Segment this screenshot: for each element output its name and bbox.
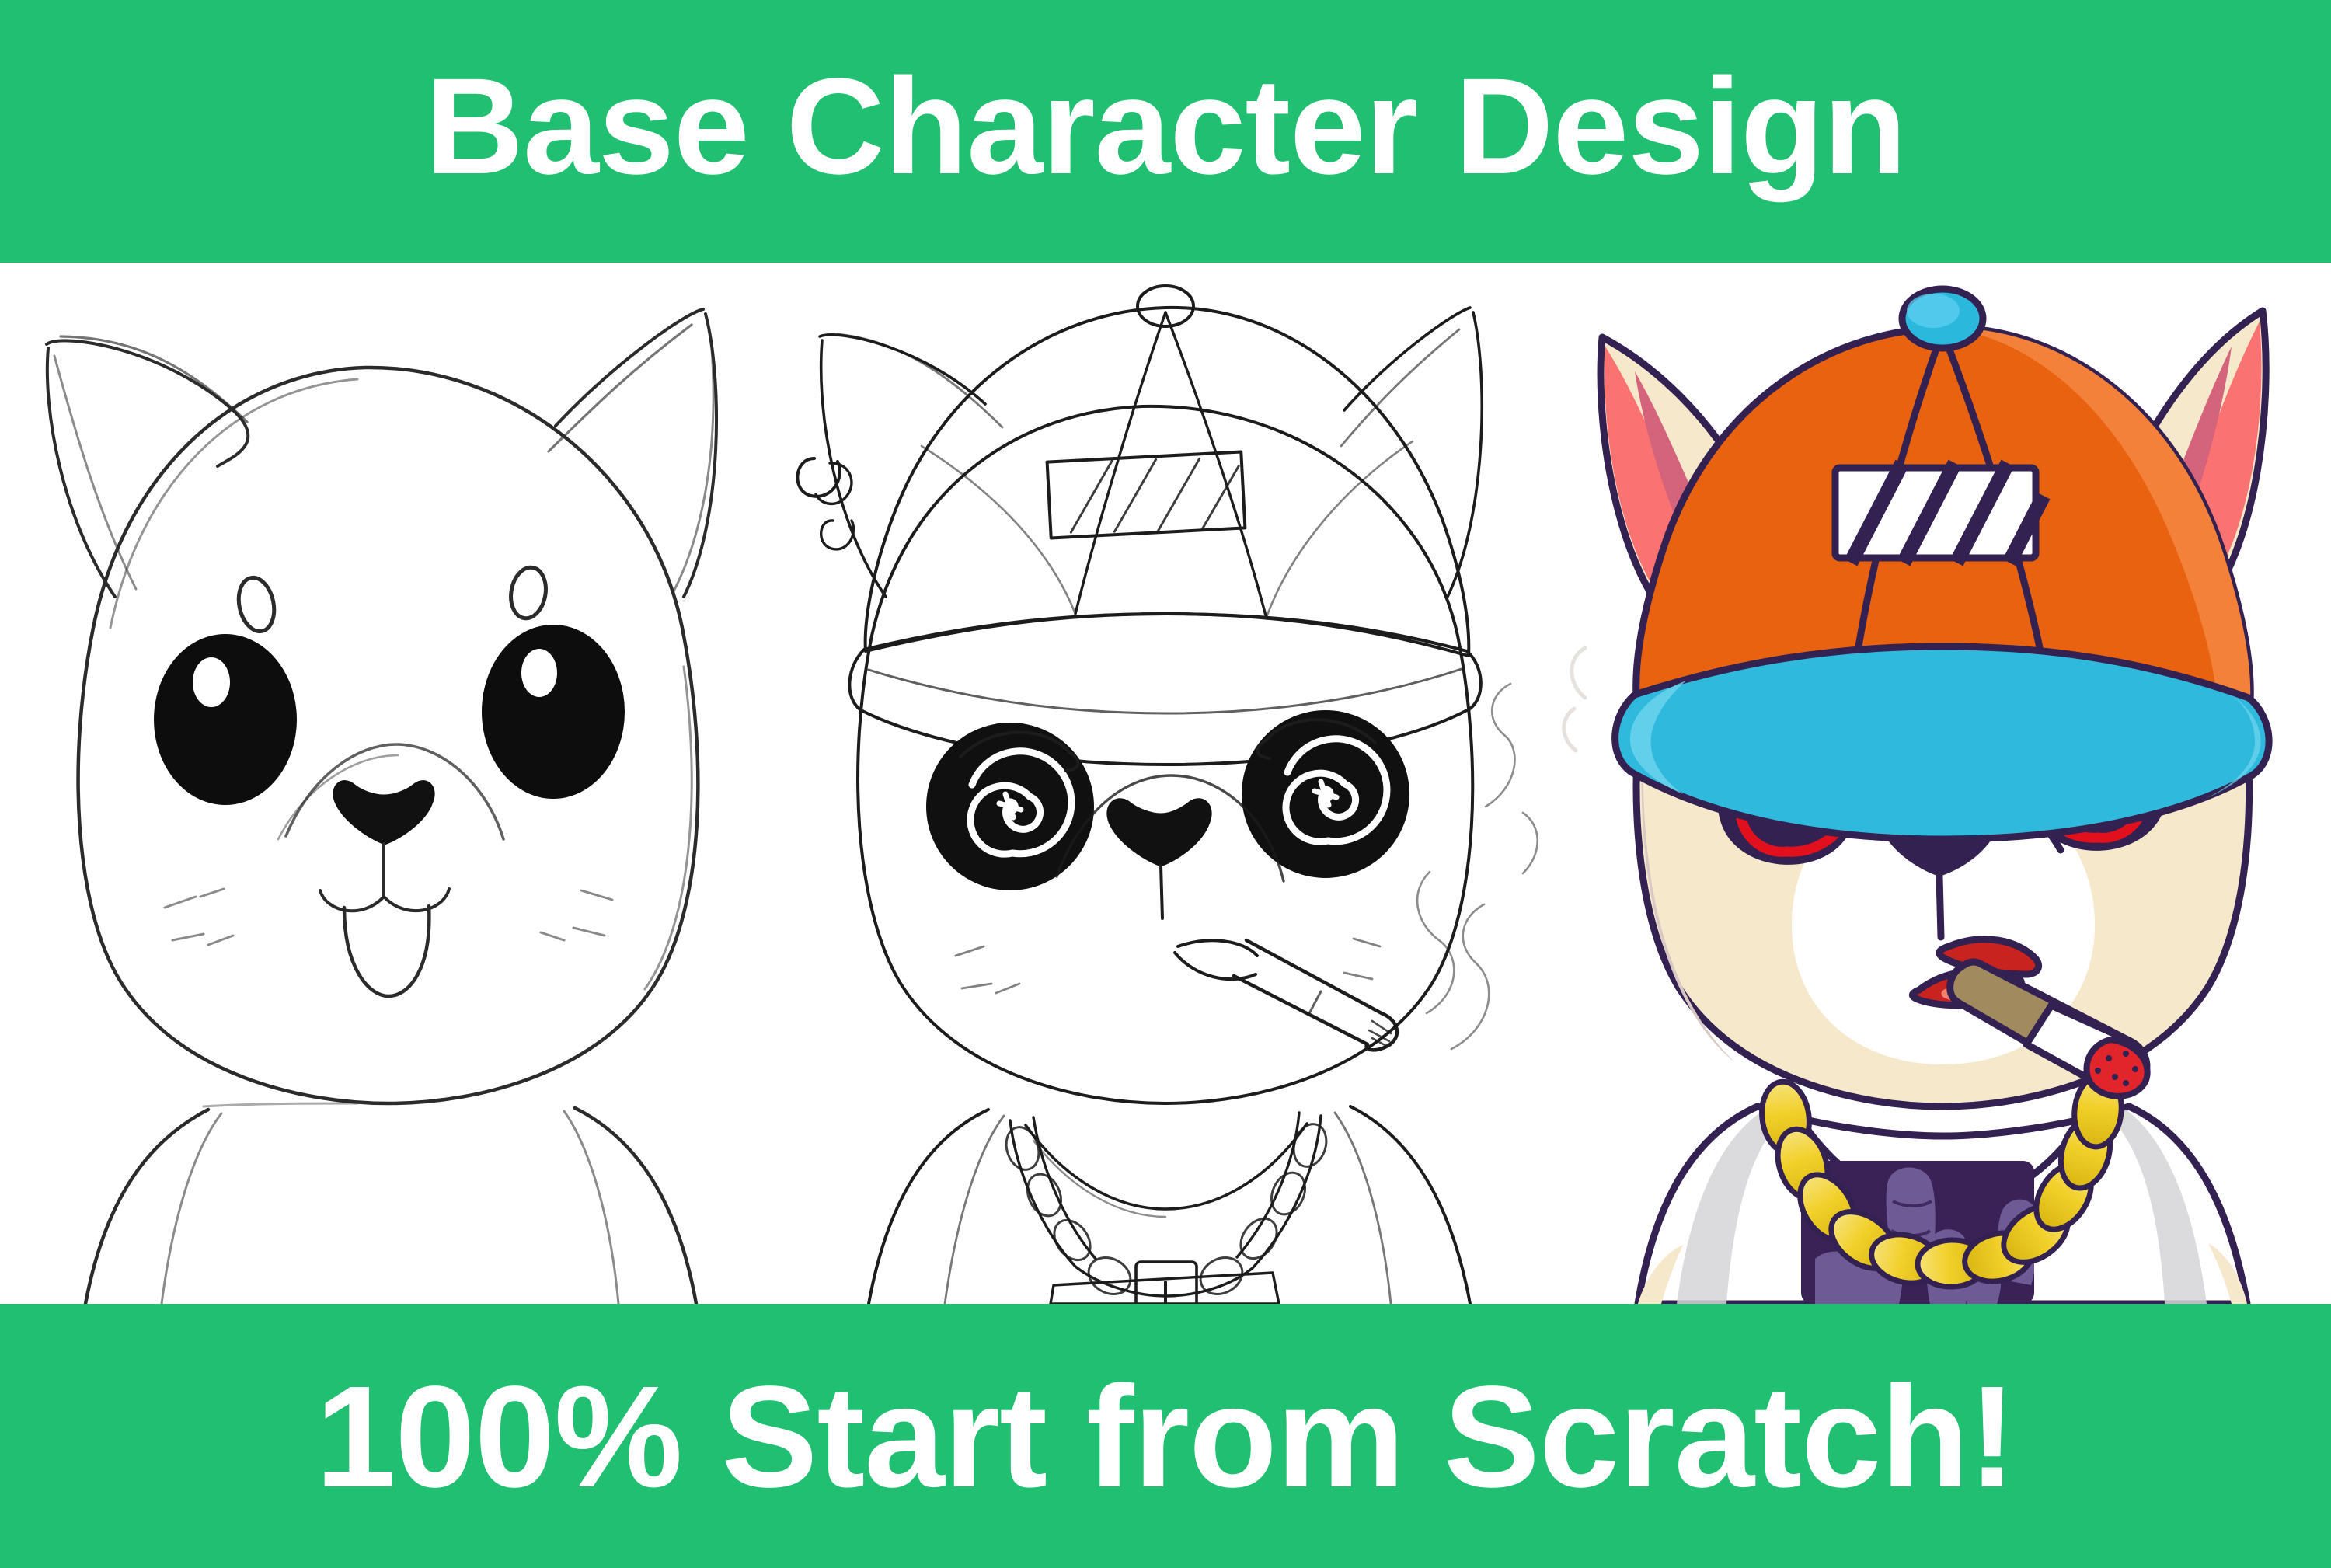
colored-vector-illustration xyxy=(1554,263,2331,1304)
bottom-banner: 100% Start from Scratch! xyxy=(0,1304,2331,1568)
tshirt-lineart xyxy=(869,1106,1470,1304)
tshirt-sketch xyxy=(85,1103,696,1304)
top-banner: Base Character Design xyxy=(0,0,2331,263)
eyebrow-right-sketch xyxy=(507,565,550,622)
page-subtitle: 100% Start from Scratch! xyxy=(315,1365,2016,1510)
cross-pendant-lineart xyxy=(1136,1262,1197,1304)
ear-left-sketch xyxy=(47,336,248,597)
cigar-lineart xyxy=(1175,940,1397,1050)
eye-left-sketch xyxy=(154,634,297,805)
cap-patch-lineart xyxy=(1047,452,1246,538)
character-stage-3: Final colored vector xyxy=(1554,263,2331,1304)
ear-right-sketch xyxy=(549,309,716,597)
page-title: Base Character Design xyxy=(425,58,1906,195)
mouth-sketch xyxy=(320,844,449,911)
tongue-sketch xyxy=(344,906,429,996)
cap-patch-colored xyxy=(1835,463,2044,563)
eyebrow-left-sketch xyxy=(234,574,279,635)
character-stage-row: Rough base sketch xyxy=(0,263,2331,1304)
cap-button-colored xyxy=(1902,289,1983,348)
nose-lineart xyxy=(1108,800,1211,918)
whiskers-right-sketch xyxy=(541,890,612,940)
eye-right-spiral-lineart xyxy=(1242,710,1409,878)
whiskers-lineart xyxy=(956,939,1380,993)
sketch-rough-illustration xyxy=(0,263,777,1304)
nose-sketch xyxy=(334,782,434,844)
sketch-lineart-illustration xyxy=(777,263,1554,1304)
character-stage-1: Rough base sketch xyxy=(0,263,777,1304)
smoke-colored xyxy=(1564,648,1585,751)
ear-piercings-lineart xyxy=(797,458,853,549)
smoke-lineart xyxy=(1417,684,1538,1049)
character-stage-2: Detailed line art sketch xyxy=(777,263,1554,1304)
whiskers-left-sketch xyxy=(165,889,233,945)
poster-root: Base Character Design Rough base sketch xyxy=(0,0,2331,1568)
cap-colored xyxy=(1615,289,2269,839)
eye-left-spiral-lineart xyxy=(926,723,1094,890)
eye-right-sketch xyxy=(482,625,625,799)
chain-lineart xyxy=(1001,1113,1331,1301)
